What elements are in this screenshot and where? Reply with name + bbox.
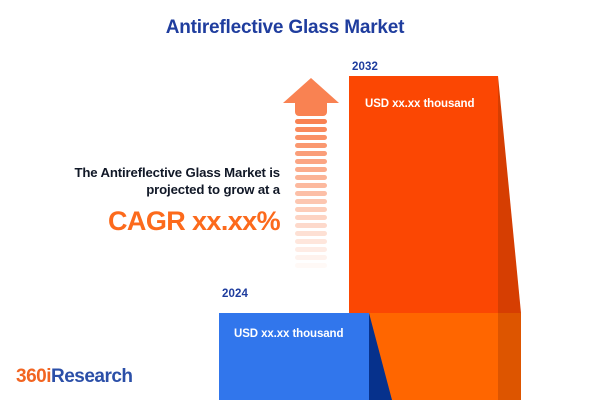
infographic-canvas: Antireflective Glass Market The Antirefl… xyxy=(0,0,600,400)
arrow-stripe xyxy=(295,127,327,132)
arrow-stripe xyxy=(295,239,327,244)
arrow-stripe xyxy=(295,191,327,196)
arrow-stripe xyxy=(295,159,327,164)
arrow-stripe xyxy=(295,151,327,156)
arrow-stripe xyxy=(295,215,327,220)
arrow-stripe xyxy=(295,223,327,228)
arrow-stripe xyxy=(295,231,327,236)
logo-word-text: Research xyxy=(51,366,133,387)
arrow-head-icon xyxy=(283,78,339,116)
bar-value-label-2032: USD xx.xx thousand xyxy=(365,98,474,110)
arrow-stripe xyxy=(295,183,327,188)
arrow-neck xyxy=(295,102,327,116)
arrow-triangle xyxy=(283,78,339,103)
cagr-value: CAGR xx.xx% xyxy=(18,206,280,237)
narrative-block: The Antireflective Glass Market is proje… xyxy=(18,164,280,237)
arrow-stripe xyxy=(295,175,327,180)
arrow-stripe xyxy=(295,263,327,268)
brand-logo: 360iResearch xyxy=(16,366,133,388)
logo-mark-text: 360i xyxy=(16,366,51,387)
bar-label-year-2032: 2032 xyxy=(352,61,378,73)
arrow-stripe xyxy=(295,207,327,212)
narrative-lead-text: The Antireflective Glass Market is proje… xyxy=(18,164,280,199)
arrow-stripe xyxy=(295,135,327,140)
arrow-stripe xyxy=(295,143,327,148)
bar-label-year-2024: 2024 xyxy=(222,288,248,300)
arrow-stripe xyxy=(295,199,327,204)
arrow-stripe xyxy=(295,167,327,172)
arrow-stripe xyxy=(295,119,327,124)
bar-value-label-2024: USD xx.xx thousand xyxy=(234,328,343,340)
bar-2032-face-upper xyxy=(349,76,498,313)
bar-2032-side-lower xyxy=(498,313,521,400)
page-title: Antireflective Glass Market xyxy=(0,17,570,39)
bar-2032-side-upper xyxy=(498,76,521,313)
growth-arrow-icon xyxy=(283,78,339,293)
arrow-stripe xyxy=(295,255,327,260)
arrow-stripe xyxy=(295,247,327,252)
bar-2024-face xyxy=(219,313,369,400)
arrow-stripe-stack xyxy=(295,119,327,293)
